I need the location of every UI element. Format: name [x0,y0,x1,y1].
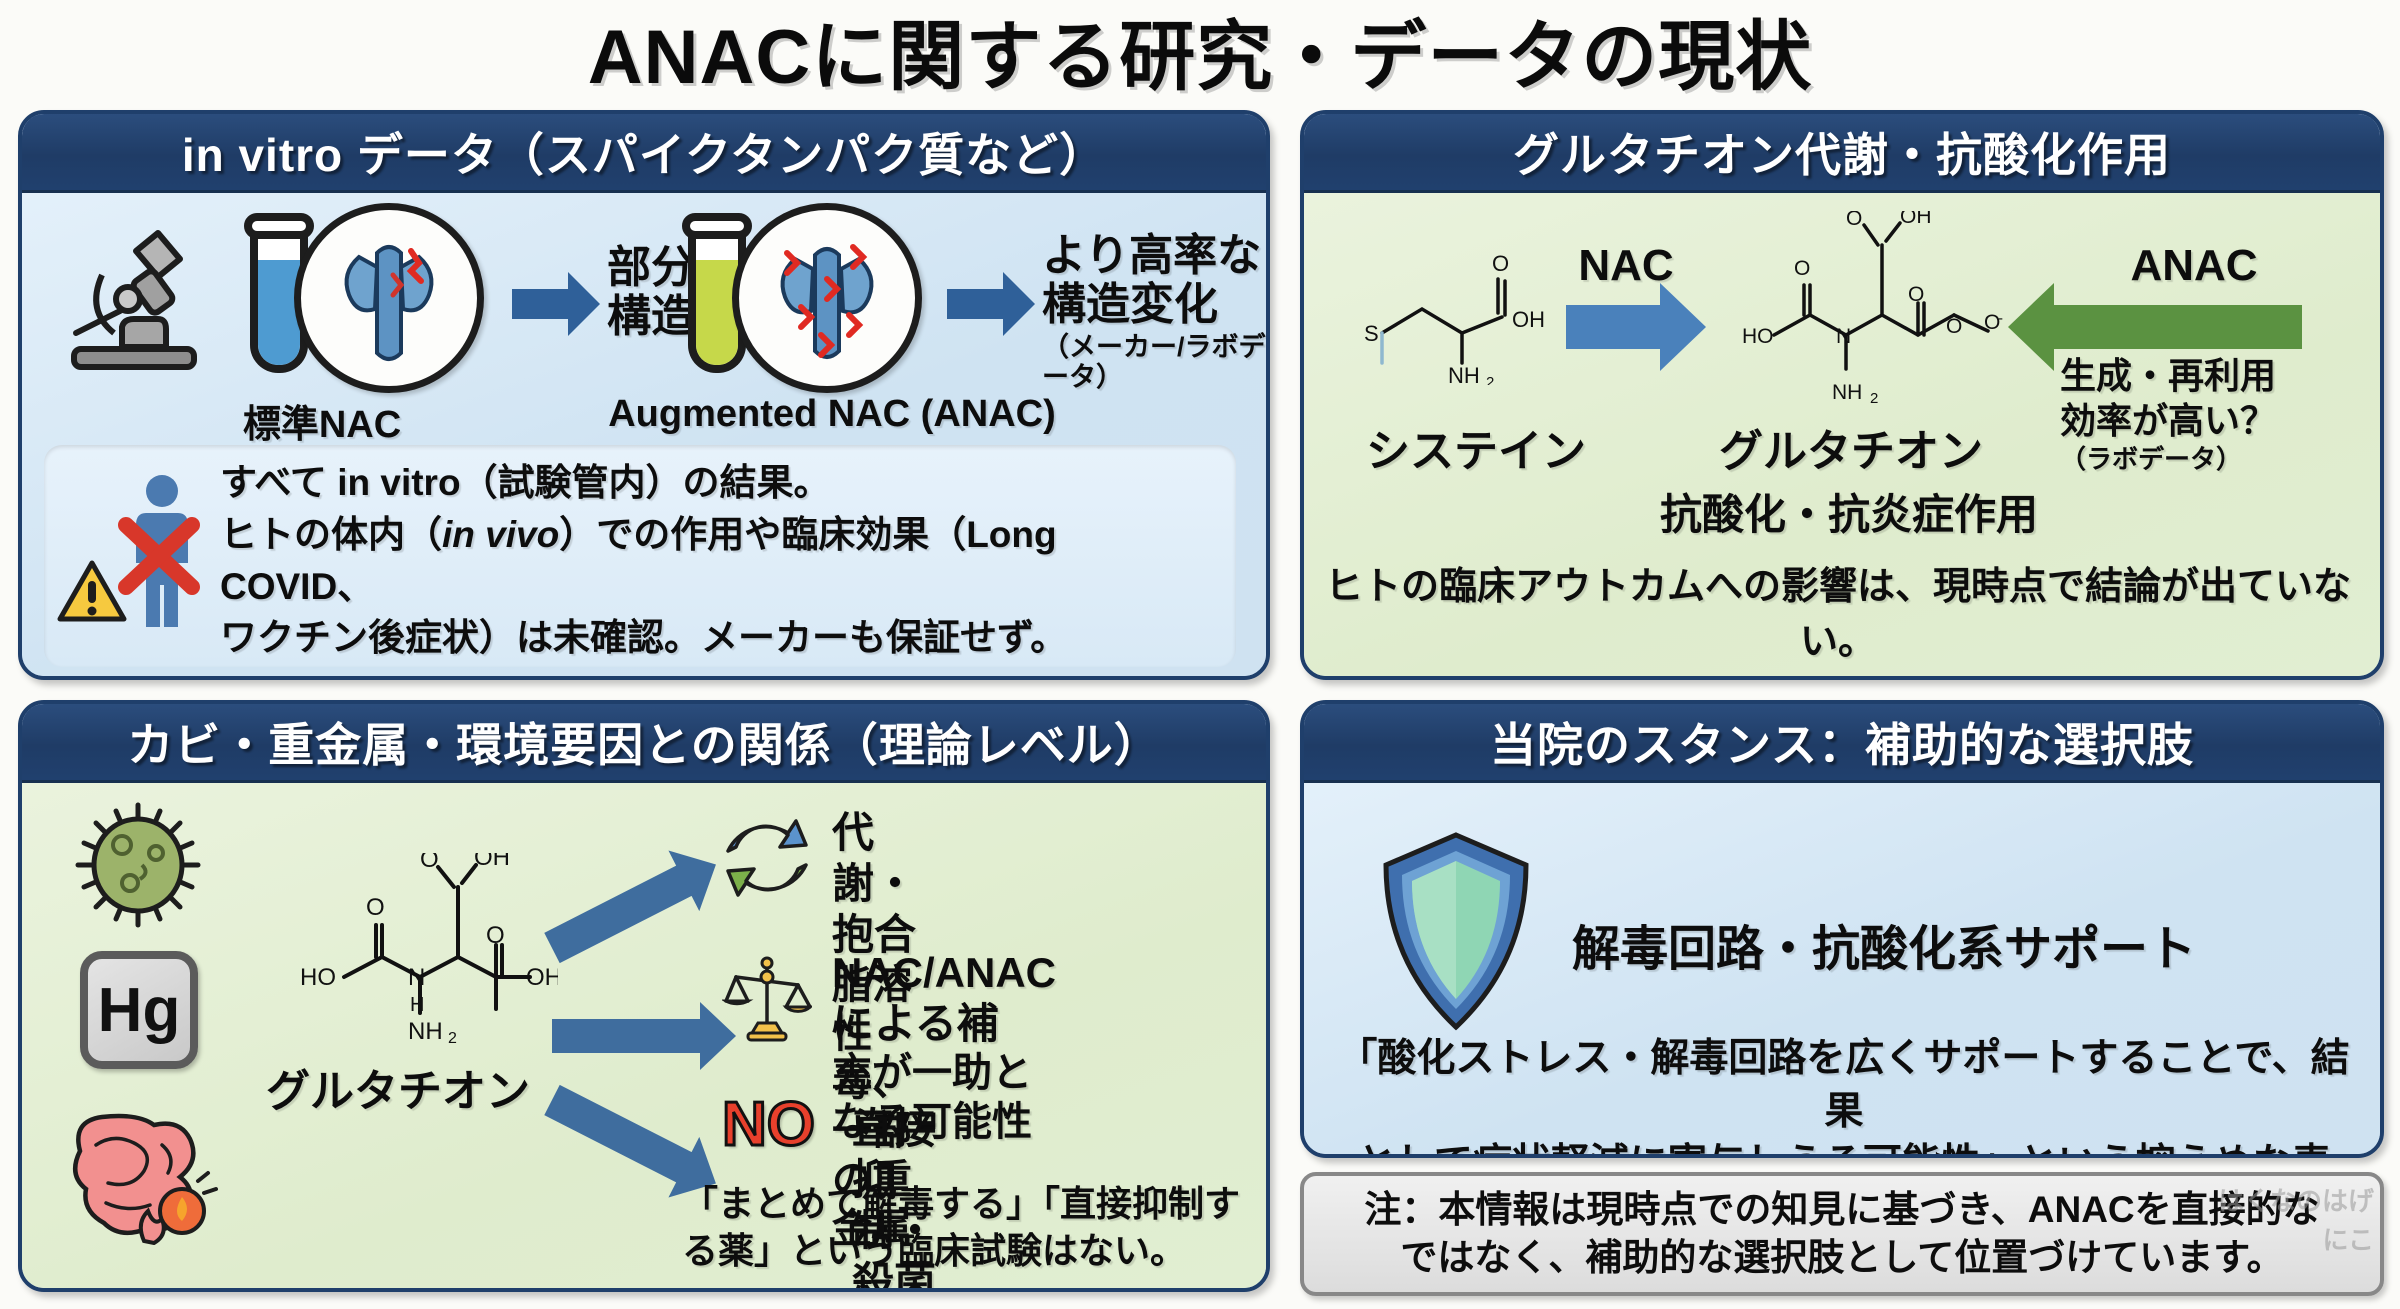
panel-environment-header: カビ・重金属・環境要因との関係（理論レベル） [22,704,1266,783]
arrow-to-supplementation [552,1019,702,1053]
stance-quote: 「酸化ストレス・解毒回路を広くサポートすることで、結果 として症状軽減に寄与しう… [1320,1033,2368,1158]
result-right-line2: 構造変化 [1042,280,1266,329]
svg-text:O: O [1794,257,1810,280]
panel-stance-title: 当院のスタンス：補助的な選択肢 [1490,709,2194,775]
svg-text:HO: HO [1742,325,1774,348]
cysteine-molecule-icon: S O OH NH 2 [1352,235,1592,385]
shield-icon [1376,831,1536,1031]
label-augmented-nac: Augmented NAC (ANAC) [602,393,1062,436]
glutathione-bottom-note: ヒトの臨床アウトカムへの影響は、現時点で結論が出ていない。 [1318,555,2358,665]
svg-text:OH: OH [474,853,510,871]
label-nac-arrow: NAC [1566,241,1686,291]
svg-text:HO: HO [300,964,336,991]
recycle-icon [722,813,812,903]
svg-text:OH: OH [1900,211,1932,228]
svg-text:S: S [1364,321,1379,346]
panel-in-vitro-header: in vitro データ（スパイクタンパク質など） [22,114,1266,193]
right-note-line1: 生成・再利用 [2060,353,2360,398]
label-anac-arrow: ANAC [2094,241,2294,291]
svg-text:NH: NH [1448,363,1480,385]
warning-no-human-icon [52,467,216,639]
panel-stance-header: 当院のスタンス：補助的な選択肢 [1304,704,2380,783]
panel-glutathione-title: グルタチオン代謝・抗酸化作用 [1513,119,2171,185]
label-cysteine: システイン [1336,415,1616,479]
env-row1-title: 代謝・抱合 [832,807,916,961]
svg-text:O: O [1846,211,1862,230]
arrow-to-no-direct [544,1085,693,1183]
right-note-source: （ラボデータ） [2060,443,2360,476]
footer-line2: ではなく、補助的な選択肢として位置づけています。 [1364,1234,2319,1282]
panel-environment-body: Hg [22,783,1266,1291]
no-label: NO [722,1089,815,1160]
panel-stance-body: 解毒回路・抗酸化系サポート 「酸化ストレス・解毒回路を広くサポートすることで、結… [1304,783,2380,1157]
svg-text:NH: NH [1832,381,1862,404]
svg-text:-: - [1998,310,2003,327]
panel-environment-title: カビ・重金属・環境要因との関係（理論レベル） [127,709,1161,775]
microscope-icon [62,215,212,375]
env-row2-title: NAC/ANACによる補 [832,947,1056,1049]
svg-text:2: 2 [448,1030,457,1043]
panel-glutathione-header: グルタチオン代謝・抗酸化作用 [1304,114,2380,193]
arrow-anac-recycling [2052,305,2302,349]
result-right-source: （メーカー/ラボデータ） [1042,332,1266,392]
env-note: 「まとめて解毒する」「直接抑制す る薬」という臨床試験はない。 [682,1181,1242,1275]
svg-text:O: O [1908,283,1924,306]
svg-text:O: O [366,894,385,921]
env-note-line1: 「まとめて解毒する」「直接抑制す [682,1181,1242,1228]
label-glutathione-env: グルタチオン [238,1055,558,1119]
spike-protein-anac-icon [732,203,922,393]
glutathione-molecule-icon: O OH HO O N O O O - NH 2 [1696,211,2026,406]
svg-text:O: O [420,853,439,873]
right-note-line2: 効率が高い？ [2060,398,2360,443]
svg-text:OH: OH [1512,307,1545,332]
svg-text:O: O [1492,251,1509,276]
svg-text:2: 2 [1486,374,1494,385]
label-antioxidant-effect: 抗酸化・抗炎症作用 [1634,481,2064,542]
warning-line-1: すべて in vitro（試験管内）の結果。 [220,457,1220,509]
intestine-inflammation-icon [58,1095,228,1245]
in-vitro-result-right: より高率な 構造変化 （メーカー/ラボデータ） [1042,231,1266,392]
svg-text:O: O [486,922,505,949]
arrow-higher-change [947,289,1005,319]
svg-text:OH: OH [526,964,558,991]
glutathione-right-note: 生成・再利用 効率が高い？ （ラボデータ） [2060,353,2360,476]
panel-clinic-stance: 当院のスタンス：補助的な選択肢 解毒回路・抗酸化系サポート 「酸化ストレス・解毒… [1300,700,2384,1158]
panel-environmental-factors: カビ・重金属・環境要因との関係（理論レベル） Hg [18,700,1270,1292]
in-vitro-warning-text: すべて in vitro（試験管内）の結果。 ヒトの体内（in vivo）での作… [220,457,1220,664]
glutathione-molecule-icon-2: O OH HO O N H O OH NH 2 [258,853,558,1043]
label-glutathione: グルタチオン [1666,415,2036,479]
in-vitro-warning-box: すべて in vitro（試験管内）の結果。 ヒトの体内（in vivo）での作… [44,445,1236,667]
arrow-nac-conversion [1566,305,1662,349]
svg-text:NH: NH [408,1018,443,1043]
svg-text:N: N [408,964,425,991]
label-standard-nac: 標準NAC [222,393,422,448]
svg-text:O: O [1946,315,1962,338]
balance-scale-icon [722,953,812,1043]
footer-disclaimer-text: 注：本情報は現時点での知見に基づき、ANACを直接的な ではなく、補助的な選択肢… [1364,1186,2319,1282]
stance-quote-line2: として症状軽減に寄与しうる可能性」という控えめな表現。 [1320,1138,2368,1158]
mercury-symbol: Hg [98,975,181,1046]
warning-line-2: ヒトの体内（in vivo）での作用や臨床効果（Long COVID、 [220,509,1220,613]
footer-line1: 注：本情報は現時点での知見に基づき、ANACを直接的な [1364,1186,2319,1234]
warning-line-3: ワクチン後症状）は未確認。メーカーも保証せず。 [220,612,1220,664]
label-shield-support: 解毒回路・抗酸化系サポート [1572,909,2196,979]
svg-text:H: H [410,994,424,1016]
panel-in-vitro-title: in vitro データ（スパイクタンパク質など） [182,119,1106,185]
panel-in-vitro-data: in vitro データ（スパイクタンパク質など） [18,110,1270,680]
arrow-to-metabolism [544,865,693,963]
stance-quote-line1: 「酸化ストレス・解毒回路を広くサポートすることで、結果 [1320,1033,2368,1138]
svg-text:N: N [1836,325,1851,348]
arrow-partial-change [512,289,570,319]
spike-protein-standard-icon [294,203,484,393]
virus-icon [72,799,204,931]
result-right-line1: より高率な [1042,231,1266,280]
panel-glutathione-metabolism: グルタチオン代謝・抗酸化作用 S O OH NH 2 NAC [1300,110,2384,680]
panel-in-vitro-body: 部分的な 構造変化 [22,193,1266,679]
svg-text:2: 2 [1870,390,1878,406]
panel-glutathione-body: S O OH NH 2 NAC O [1304,193,2380,679]
mercury-icon: Hg [80,951,198,1069]
footer-disclaimer: 注：本情報は現時点での知見に基づき、ANACを直接的な ではなく、補助的な選択肢… [1300,1172,2384,1296]
page-title: ANACに関する研究・データの現状 [0,2,2400,98]
env-note-line2: る薬」という臨床試験はない。 [682,1228,1242,1275]
